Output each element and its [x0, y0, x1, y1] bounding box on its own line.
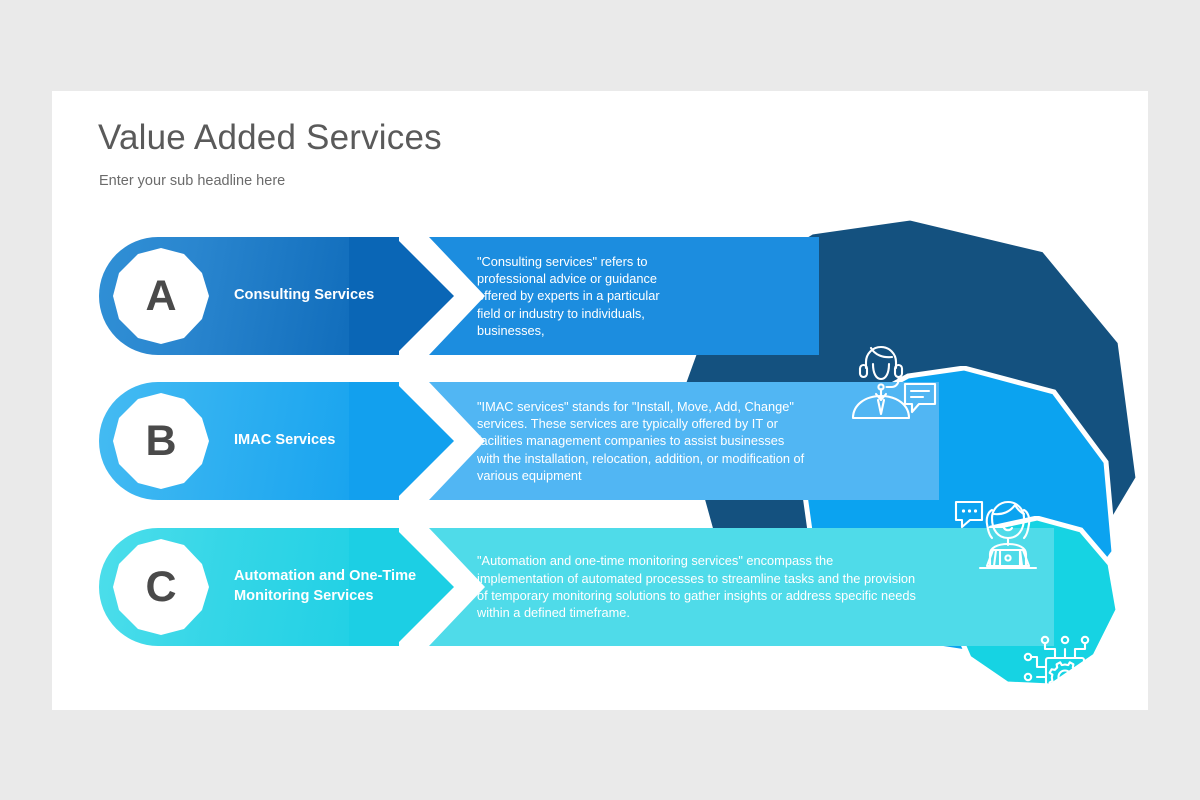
- service-description-b: "IMAC services" stands for "Install, Mov…: [477, 382, 807, 500]
- service-label-a: Consulting Services: [234, 237, 424, 355]
- headset-agent-icon: [847, 338, 939, 420]
- slide-canvas: Value Added Services Enter your sub head…: [52, 91, 1148, 710]
- service-row-a[interactable]: A Consulting Services "Consulting servic…: [99, 237, 1109, 355]
- service-description-a: "Consulting services" refers to professi…: [477, 237, 677, 355]
- agent-laptop-icon: [952, 488, 1048, 574]
- page-subtitle: Enter your sub headline here: [99, 173, 285, 189]
- letter-badge-a-text: A: [112, 247, 210, 345]
- label-pill-a: A Consulting Services: [99, 237, 454, 355]
- label-pill-c: C Automation and One-Time Monitoring Ser…: [99, 528, 454, 646]
- service-row-b[interactable]: B IMAC Services "IMAC services" stands f…: [99, 382, 1109, 500]
- service-description-c: "Automation and one-time monitoring serv…: [477, 528, 917, 646]
- cpu-gear-icon: [1019, 631, 1111, 710]
- service-label-c: Automation and One-Time Monitoring Servi…: [234, 528, 424, 646]
- label-pill-b: B IMAC Services: [99, 382, 454, 500]
- letter-badge-b-text: B: [112, 392, 210, 490]
- service-label-b: IMAC Services: [234, 382, 424, 500]
- letter-badge-c-text: C: [112, 538, 210, 636]
- page-title: Value Added Services: [98, 118, 442, 158]
